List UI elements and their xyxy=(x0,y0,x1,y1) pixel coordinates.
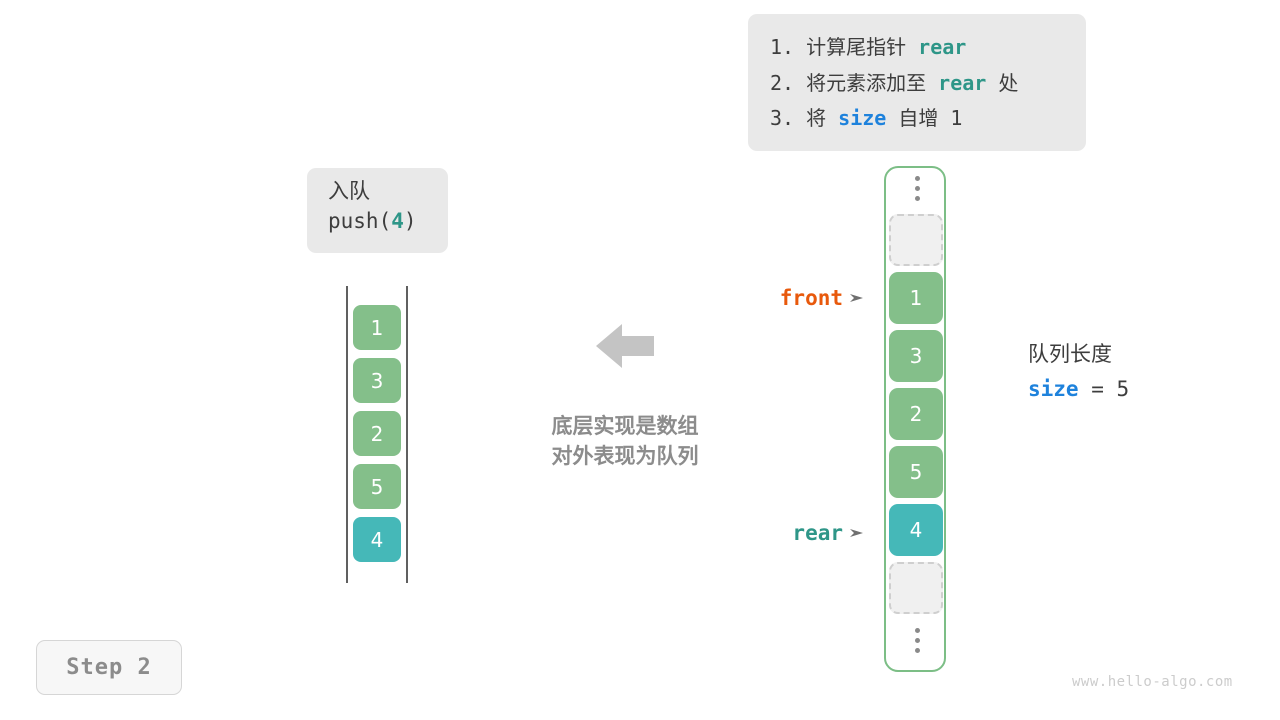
array-cell: 2 xyxy=(889,388,943,440)
size-info-value: size = 5 xyxy=(1028,377,1129,401)
front-pointer-label: front xyxy=(780,286,843,310)
operation-title: 入队 xyxy=(328,180,448,203)
watermark: www.hello-algo.com xyxy=(1072,674,1233,690)
operation-box: 入队 push(4) xyxy=(307,168,448,253)
instruction-line-1-keyword: rear xyxy=(918,35,966,59)
array-cell-empty xyxy=(889,562,943,614)
array-view: 1 3 2 5 4 xyxy=(884,166,946,672)
instruction-line-3-text: 3. 将 xyxy=(770,106,838,130)
center-caption: 底层实现是数组 对外表现为队列 xyxy=(528,412,722,472)
instruction-panel: 1. 计算尾指针 rear 2. 将元素添加至 rear 处 3. 将 size… xyxy=(748,14,1086,151)
instruction-line-1-text: 1. 计算尾指针 xyxy=(770,35,918,59)
array-cell: 1 xyxy=(889,272,943,324)
instruction-line-2-text: 2. 将元素添加至 xyxy=(770,71,938,95)
array-cell-empty xyxy=(889,214,943,266)
instruction-line-2-suffix: 处 xyxy=(986,71,1018,95)
queue-view: 1 3 2 5 4 xyxy=(346,286,408,583)
instruction-line-1: 1. 计算尾指针 rear xyxy=(748,30,1086,66)
array-cell-new: 4 xyxy=(889,504,943,556)
queue-cell: 5 xyxy=(353,464,401,509)
instruction-line-2: 2. 将元素添加至 rear 处 xyxy=(748,66,1086,102)
rear-pointer-label: rear xyxy=(792,521,843,545)
operation-code: push(4) xyxy=(328,209,448,233)
operation-code-suffix: ) xyxy=(404,209,417,233)
array-cell-list: 1 3 2 5 4 xyxy=(889,168,945,666)
size-info-title: 队列长度 xyxy=(1028,342,1129,367)
array-top-ellipsis-icon xyxy=(889,168,945,208)
instruction-line-3-suffix: 自增 1 xyxy=(886,106,962,130)
front-pointer-arrow-icon xyxy=(850,286,866,310)
center-caption-line-2: 对外表现为队列 xyxy=(528,442,722,472)
queue-rail-left xyxy=(346,286,348,583)
instruction-line-3: 3. 将 size 自增 1 xyxy=(748,101,1086,137)
step-badge: Step 2 xyxy=(36,640,182,695)
operation-code-prefix: push( xyxy=(328,209,391,233)
size-var-equals: = 5 xyxy=(1079,377,1130,401)
rear-pointer-arrow-icon xyxy=(850,521,866,545)
size-info: 队列长度 size = 5 xyxy=(1028,342,1129,401)
queue-cell: 1 xyxy=(353,305,401,350)
instruction-line-3-keyword: size xyxy=(838,106,886,130)
front-pointer: front xyxy=(700,286,866,310)
queue-rail-right xyxy=(406,286,408,583)
center-caption-line-1: 底层实现是数组 xyxy=(528,412,722,442)
queue-cell-new: 4 xyxy=(353,517,401,562)
step-badge-label: Step 2 xyxy=(66,655,151,680)
operation-code-value: 4 xyxy=(391,209,404,233)
array-cell: 3 xyxy=(889,330,943,382)
queue-cell: 3 xyxy=(353,358,401,403)
flow-arrow-left-icon xyxy=(596,320,654,372)
queue-cell: 2 xyxy=(353,411,401,456)
size-var-name: size xyxy=(1028,377,1079,401)
instruction-line-2-keyword: rear xyxy=(938,71,986,95)
array-cell: 5 xyxy=(889,446,943,498)
array-bottom-ellipsis-icon xyxy=(889,620,945,660)
queue-cell-list: 1 3 2 5 4 xyxy=(353,305,401,570)
rear-pointer: rear xyxy=(700,521,866,545)
